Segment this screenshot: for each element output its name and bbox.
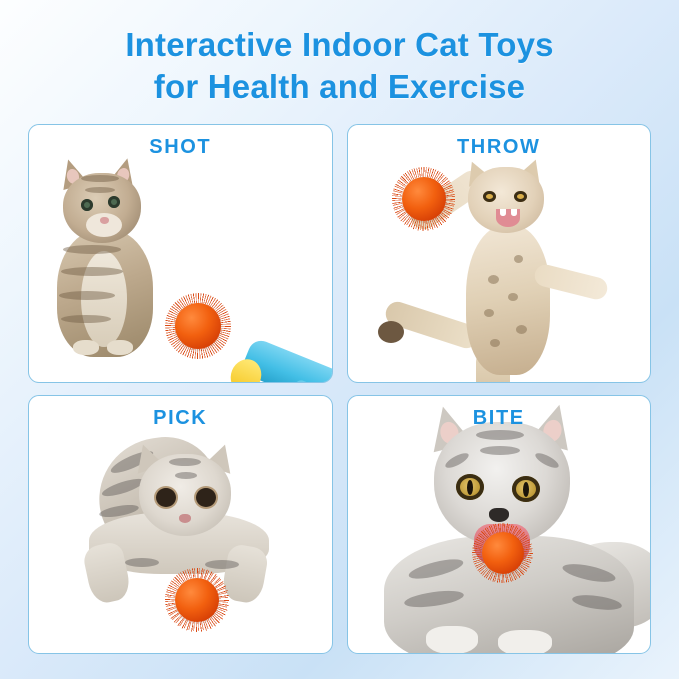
panel-pick-label: PICK [29, 407, 332, 430]
cat-nose [100, 217, 109, 224]
title-line-1: Interactive Indoor Cat Toys [125, 26, 553, 63]
panel-pick[interactable]: PICK [28, 395, 333, 654]
cat-torso [466, 225, 550, 375]
cat-eye-left [483, 191, 496, 202]
title-line-2: for Health and Exercise [0, 66, 679, 108]
panel-shot-image [29, 125, 332, 382]
orange-spiky-ball [402, 177, 446, 221]
cat-paw-left [73, 340, 99, 355]
panel-bite[interactable]: BITE [347, 395, 652, 654]
panel-throw[interactable]: THROW [347, 124, 652, 383]
cat-tail-tip [378, 321, 404, 343]
panel-throw-image [348, 125, 651, 382]
orange-spiky-ball [482, 532, 524, 574]
toy-launcher-gun [225, 337, 333, 383]
cat-eye-right [196, 488, 216, 507]
panel-shot[interactable]: SHOT [28, 124, 333, 383]
cat-eye-right [514, 191, 527, 202]
cat-eye-left [81, 199, 93, 211]
panel-pick-image [29, 396, 332, 653]
page-title: Interactive Indoor Cat Toys for Health a… [0, 24, 679, 107]
cat-paw-right [498, 630, 552, 654]
panel-bite-image [348, 396, 651, 653]
orange-spiky-ball [175, 303, 221, 349]
cat-nose [489, 508, 509, 522]
panel-bite-label: BITE [348, 407, 651, 430]
orange-spiky-ball [175, 578, 219, 622]
cat-nose [179, 514, 191, 523]
cat-eye-left [156, 488, 176, 507]
panel-shot-label: SHOT [29, 136, 332, 159]
cat-head [139, 454, 231, 536]
product-poster: Interactive Indoor Cat Toys for Health a… [0, 0, 679, 679]
feature-grid: SHOT [28, 124, 651, 654]
panel-throw-label: THROW [348, 136, 651, 159]
cat-paw-right [107, 340, 133, 355]
cat-paw-left [426, 626, 478, 654]
cat-eye-right [108, 196, 120, 208]
